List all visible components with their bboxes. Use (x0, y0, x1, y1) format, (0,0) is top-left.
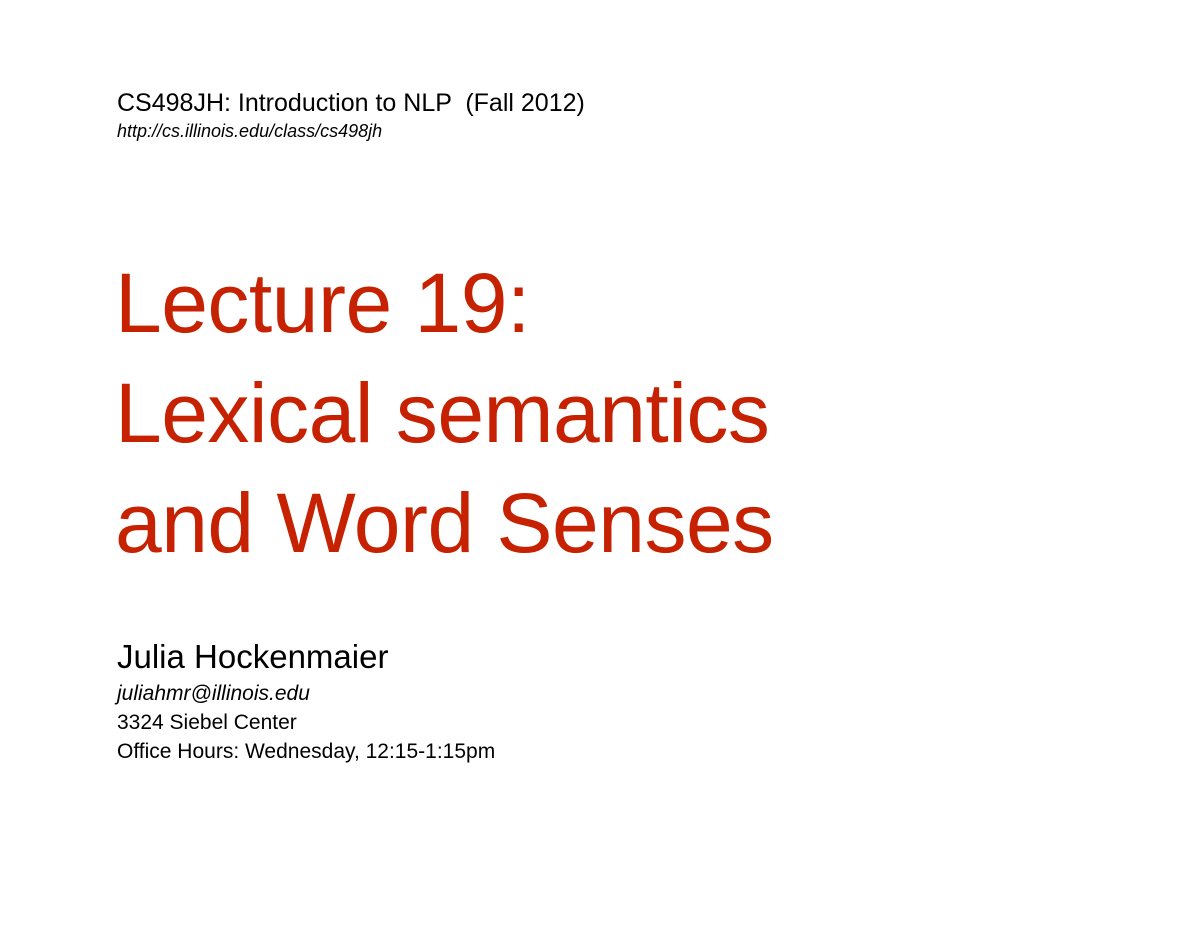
page-title: Lecture 19: Lexical semantics and Word S… (115, 248, 1155, 578)
page-title-line-2: Lexical semantics (115, 358, 1155, 468)
author-office-hours: Office Hours: Wednesday, 12:15-1:15pm (117, 737, 1017, 766)
page-title-line-1: Lecture 19: (115, 248, 1155, 358)
course-url[interactable]: http://cs.illinois.edu/class/cs498jh (117, 119, 1117, 144)
author-email[interactable]: juliahmr@illinois.edu (117, 680, 1017, 708)
author-block: Julia Hockenmaier juliahmr@illinois.edu … (117, 636, 1017, 766)
author-name: Julia Hockenmaier (117, 636, 1017, 678)
author-office-location: 3324 Siebel Center (117, 708, 1017, 737)
page-title-line-3: and Word Senses (115, 468, 1155, 578)
slide-header: CS498JH: Introduction to NLP (Fall 2012)… (117, 88, 1117, 144)
lecture-title-slide: CS498JH: Introduction to NLP (Fall 2012)… (0, 0, 1200, 927)
course-title: CS498JH: Introduction to NLP (Fall 2012) (117, 88, 1117, 118)
